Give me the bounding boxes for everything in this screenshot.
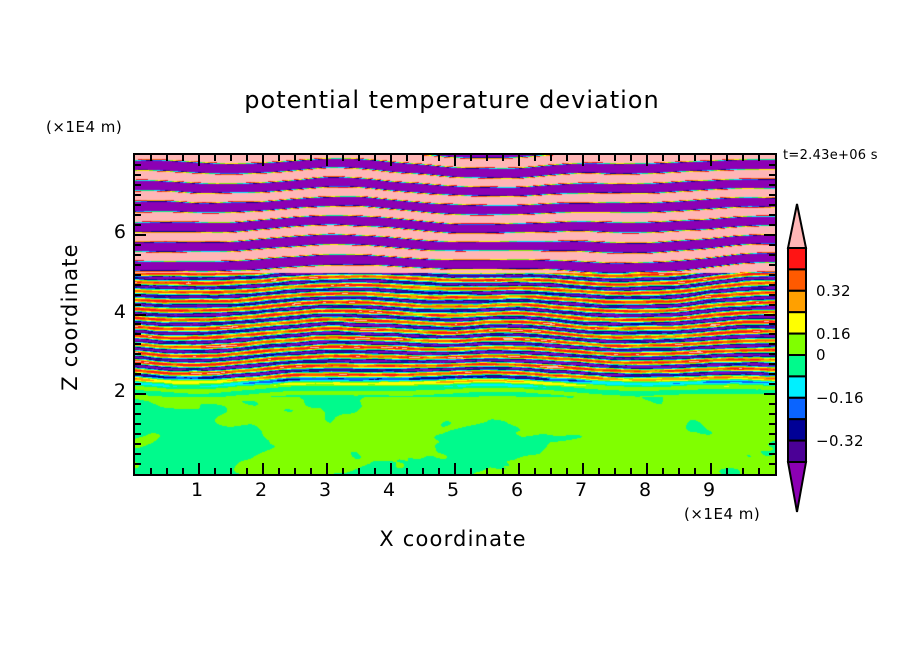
y-tick-right [769,463,775,465]
time-annotation: t=2.43e+06 s [783,148,878,163]
y-tick-left [135,204,141,206]
x-tick-bottom [678,468,680,474]
y-tick-right [769,284,775,286]
x-tick-label: 1 [177,479,217,501]
x-tick-top [438,155,440,161]
x-tick-top [598,155,600,161]
x-tick-bottom [566,468,568,474]
x-tick-top [502,155,504,161]
x-tick-bottom [166,468,168,474]
x-tick-top [150,155,152,161]
x-tick-top [582,155,584,166]
colorbar-tick-label: −0.16 [816,389,864,407]
x-tick-bottom [182,468,184,474]
x-tick-top [166,155,168,161]
x-tick-bottom [582,463,584,474]
y-tick-left [135,244,141,246]
y-tick-right [769,423,775,425]
x-tick-top [758,155,760,161]
y-tick-label: 4 [92,301,126,323]
x-tick-top [198,155,200,166]
y-tick-label: 2 [92,380,126,402]
x-tick-top [246,155,248,161]
x-tick-top [566,155,568,161]
x-tick-top [742,155,744,161]
x-tick-bottom [454,463,456,474]
y-tick-right [769,413,775,415]
y-tick-right [769,204,775,206]
x-tick-bottom [278,468,280,474]
x-tick-top [406,155,408,161]
x-tick-bottom [294,468,296,474]
colorbar-swatches [780,200,810,520]
x-axis-units-label: (×1E4 m) [684,505,760,523]
x-tick-top [518,155,520,166]
y-tick-left [135,224,141,226]
x-tick-bottom [198,463,200,474]
y-tick-right [769,274,775,276]
y-tick-left [135,323,141,325]
y-tick-left [135,393,146,395]
page-title: potential temperature deviation [0,86,904,114]
x-tick-top [614,155,616,161]
x-tick-label: 4 [369,479,409,501]
y-tick-left [135,453,141,455]
y-tick-right [769,323,775,325]
x-tick-top [694,155,696,161]
x-tick-top [534,155,536,161]
colorbar: 0.320.160−0.16−0.32 [780,200,900,520]
x-tick-top [550,155,552,161]
colorbar-tick-label: 0.16 [816,325,851,343]
y-tick-left [135,264,141,266]
x-tick-bottom [598,468,600,474]
y-tick-right [769,214,775,216]
x-tick-top [182,155,184,161]
y-tick-right [769,244,775,246]
y-tick-left [135,184,141,186]
y-tick-left [135,164,141,166]
x-tick-top [310,155,312,161]
y-tick-right [769,224,775,226]
y-tick-left [135,343,141,345]
y-tick-left [135,214,141,216]
y-tick-right [764,234,775,236]
x-tick-top [710,155,712,166]
x-tick-bottom [758,468,760,474]
y-tick-left [135,333,141,335]
y-axis-title: Z coordinate [58,217,82,417]
y-tick-right [769,453,775,455]
x-tick-bottom [246,468,248,474]
y-tick-left [135,383,141,385]
x-tick-bottom [390,463,392,474]
x-tick-top [486,155,488,161]
y-tick-left [135,423,141,425]
x-tick-bottom [662,468,664,474]
x-tick-top [262,155,264,166]
x-tick-top [390,155,392,166]
x-tick-bottom [406,468,408,474]
y-tick-right [769,264,775,266]
y-tick-right [769,304,775,306]
x-tick-bottom [230,468,232,474]
y-tick-right [769,184,775,186]
y-tick-right [769,433,775,435]
x-tick-top [230,155,232,161]
x-tick-bottom [534,468,536,474]
y-tick-left [135,433,141,435]
y-tick-left [135,443,141,445]
y-tick-right [769,333,775,335]
x-tick-top [294,155,296,161]
x-tick-top [454,155,456,166]
y-tick-left [135,413,141,415]
y-tick-right [769,294,775,296]
x-axis-title: X coordinate [133,527,773,551]
y-tick-right [769,373,775,375]
colorbar-tick-label: 0.32 [816,282,851,300]
x-tick-top [214,155,216,161]
y-tick-right [769,403,775,405]
colorbar-tick-label: −0.32 [816,432,864,450]
x-tick-bottom [710,463,712,474]
x-tick-label: 6 [497,479,537,501]
x-tick-top [342,155,344,161]
y-tick-left [135,373,141,375]
x-tick-top [278,155,280,161]
x-tick-bottom [550,468,552,474]
x-tick-label: 7 [561,479,601,501]
y-tick-left [135,463,141,465]
y-tick-left [135,274,141,276]
x-tick-bottom [726,468,728,474]
x-tick-bottom [374,468,376,474]
x-tick-bottom [310,468,312,474]
x-tick-bottom [742,468,744,474]
x-tick-top [726,155,728,161]
y-tick-left [135,314,146,316]
x-tick-bottom [438,468,440,474]
y-tick-left [135,353,141,355]
y-tick-right [769,164,775,166]
x-tick-label: 9 [689,479,729,501]
y-tick-right [769,174,775,176]
y-tick-right [769,343,775,345]
x-tick-label: 3 [305,479,345,501]
x-tick-bottom [614,468,616,474]
y-tick-right [769,363,775,365]
x-tick-bottom [262,463,264,474]
x-tick-top [358,155,360,161]
x-tick-bottom [630,468,632,474]
temperature-deviation-field [135,155,775,474]
contour-plot-area [133,153,777,476]
y-tick-left [135,403,141,405]
y-tick-right [769,353,775,355]
x-tick-bottom [470,468,472,474]
x-tick-label: 2 [241,479,281,501]
y-tick-right [764,314,775,316]
x-tick-bottom [342,468,344,474]
x-tick-bottom [422,468,424,474]
y-tick-right [764,393,775,395]
y-tick-left [135,284,141,286]
x-tick-bottom [150,468,152,474]
x-tick-top [422,155,424,161]
y-tick-left [135,194,141,196]
y-tick-left [135,174,141,176]
x-tick-label: 5 [433,479,473,501]
x-tick-top [326,155,328,166]
x-tick-label: 8 [625,479,665,501]
x-tick-bottom [518,463,520,474]
y-tick-right [769,383,775,385]
x-tick-top [678,155,680,161]
y-tick-left [135,234,146,236]
x-tick-bottom [502,468,504,474]
y-tick-right [769,194,775,196]
y-tick-label: 6 [92,221,126,243]
x-tick-bottom [486,468,488,474]
x-tick-bottom [326,463,328,474]
x-tick-bottom [214,468,216,474]
x-tick-top [374,155,376,161]
y-tick-left [135,363,141,365]
y-tick-left [135,304,141,306]
y-tick-right [769,443,775,445]
y-axis-units-label: (×1E4 m) [46,118,122,136]
y-tick-left [135,254,141,256]
x-tick-top [470,155,472,161]
x-tick-top [646,155,648,166]
x-tick-bottom [358,468,360,474]
x-tick-bottom [694,468,696,474]
colorbar-tick-label: 0 [816,346,826,364]
x-tick-top [630,155,632,161]
x-tick-top [662,155,664,161]
y-tick-left [135,294,141,296]
y-tick-right [769,254,775,256]
x-tick-bottom [646,463,648,474]
